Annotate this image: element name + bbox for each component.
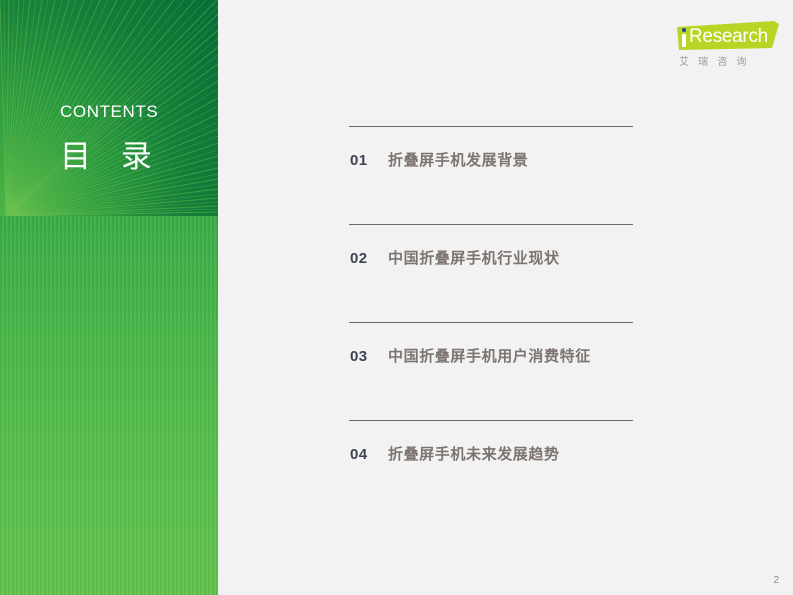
sidebar-green-panel: CONTENTS 目 录 xyxy=(0,0,218,595)
toc-divider xyxy=(349,322,633,323)
toc-title: 中国折叠屏手机行业现状 xyxy=(388,247,560,268)
toc-title: 中国折叠屏手机用户消费特征 xyxy=(388,345,591,366)
toc-row: 03 中国折叠屏手机用户消费特征 xyxy=(350,345,591,366)
toc-title: 折叠屏手机未来发展趋势 xyxy=(388,443,560,464)
toc-number: 01 xyxy=(350,152,388,169)
toc-number: 04 xyxy=(350,446,388,463)
toc-divider xyxy=(349,126,633,127)
logo-wordmark: Research xyxy=(676,21,780,51)
slide-canvas: CONTENTS 目 录 Research 艾 瑞 咨 询 01 折叠屏手机发展… xyxy=(0,0,793,595)
logo-dot-icon xyxy=(682,28,686,32)
logo-subtitle-cn: 艾 瑞 咨 询 xyxy=(679,53,779,68)
iresearch-logo: Research 艾 瑞 咨 询 xyxy=(676,21,780,71)
toc-item-04[interactable]: 04 折叠屏手机未来发展趋势 xyxy=(349,420,633,518)
toc-row: 02 中国折叠屏手机行业现状 xyxy=(350,247,560,268)
toc-item-01[interactable]: 01 折叠屏手机发展背景 xyxy=(349,126,633,224)
toc-number: 03 xyxy=(350,348,388,365)
toc-divider xyxy=(349,224,633,225)
page-number: 2 xyxy=(773,575,779,586)
toc-row: 01 折叠屏手机发展背景 xyxy=(350,149,528,170)
contents-heading-en: CONTENTS xyxy=(60,102,158,122)
vertical-stripe-decoration xyxy=(0,216,218,595)
logo-i-stem xyxy=(682,34,686,47)
toc-divider xyxy=(349,420,633,421)
stripe-overlay xyxy=(0,216,218,595)
logo-research-text: Research xyxy=(689,27,768,46)
table-of-contents: 01 折叠屏手机发展背景 02 中国折叠屏手机行业现状 03 中国折叠屏手机用户… xyxy=(349,126,633,518)
toc-number: 02 xyxy=(350,250,388,267)
toc-item-03[interactable]: 03 中国折叠屏手机用户消费特征 xyxy=(349,322,633,420)
toc-title: 折叠屏手机发展背景 xyxy=(388,149,528,170)
logo-i-letter xyxy=(681,25,690,47)
contents-heading-cn: 目 录 xyxy=(60,131,162,176)
toc-item-02[interactable]: 02 中国折叠屏手机行业现状 xyxy=(349,224,633,322)
toc-row: 04 折叠屏手机未来发展趋势 xyxy=(350,443,560,464)
